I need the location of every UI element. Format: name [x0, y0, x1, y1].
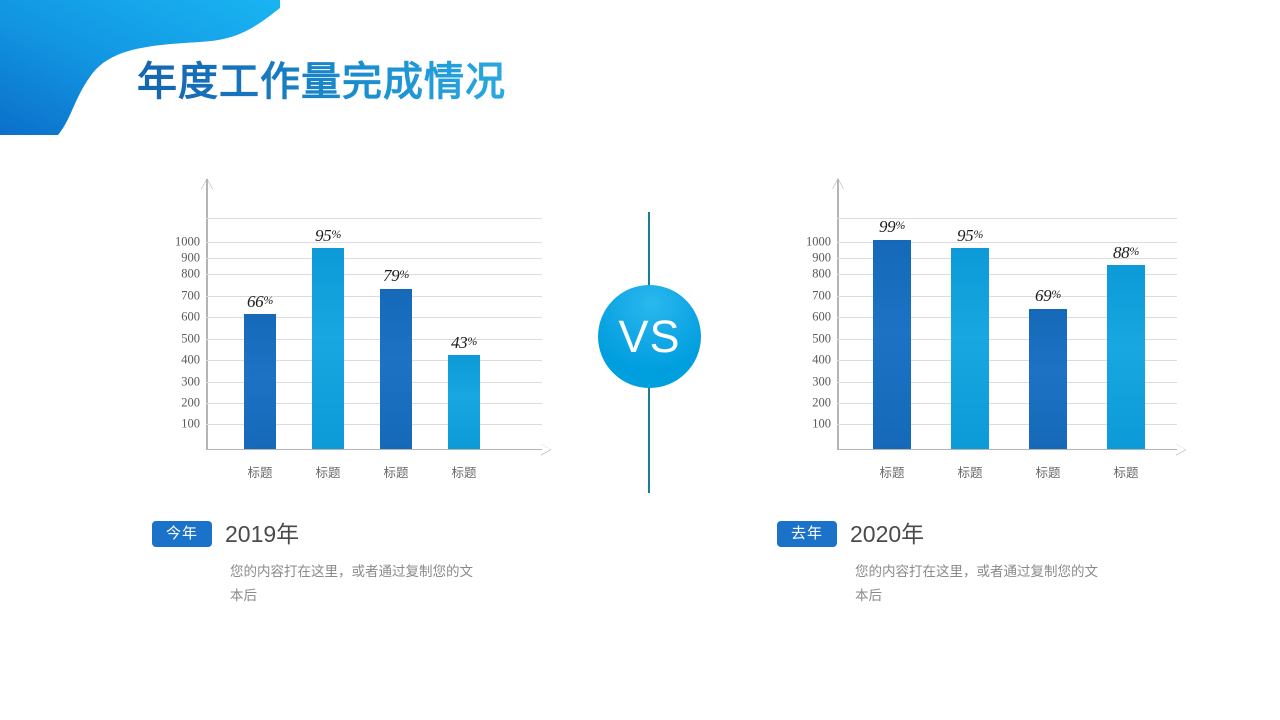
- bar-value-label: 95%: [315, 226, 341, 246]
- y-axis-tick-label: 800: [812, 267, 831, 282]
- caption-body-2019: 您的内容打在这里，或者通过复制您的文本后: [230, 560, 475, 607]
- gridline: [206, 258, 542, 259]
- x-axis-tick-label: 标题: [247, 462, 272, 481]
- y-axis-tick-label: 400: [812, 353, 831, 368]
- caption-head-2019: 今年 2019年: [152, 521, 475, 547]
- bar-value-label: 79%: [383, 266, 409, 286]
- page-title: 年度工作量完成情况: [137, 58, 506, 106]
- caption-head-2020: 去年 2020年: [777, 521, 1100, 547]
- plot-area-left: 100090080070060050040030020010066%95%79%…: [206, 203, 542, 450]
- x-axis-tick-label: 标题: [451, 462, 476, 481]
- plot-area-right: 100090080070060050040030020010099%95%69%…: [837, 203, 1177, 450]
- chart-panel-2020: 100090080070060050040030020010099%95%69%…: [775, 195, 1185, 495]
- caption-year-2019: 2019年: [225, 523, 299, 546]
- y-axis-tick-label: 900: [812, 251, 831, 266]
- y-axis-tick-label: 300: [812, 374, 831, 389]
- y-axis-tick-label: 500: [812, 331, 831, 346]
- bar: [244, 314, 276, 448]
- bar: [1107, 265, 1145, 448]
- vs-badge: VS: [598, 285, 701, 388]
- bar-value-label: 95%: [957, 226, 983, 246]
- caption-2019: 今年 2019年 您的内容打在这里，或者通过复制您的文本后: [152, 521, 475, 607]
- y-axis-right: [837, 179, 839, 450]
- y-axis-tick-label: 900: [181, 251, 200, 266]
- y-axis-tick-label: 400: [181, 353, 200, 368]
- bar-value-label: 88%: [1113, 243, 1139, 263]
- bar: [380, 289, 412, 449]
- bar: [951, 248, 989, 448]
- bar: [312, 248, 344, 448]
- y-axis-tick-label: 100: [812, 417, 831, 432]
- caption-year-2020: 2020年: [850, 523, 924, 546]
- bar-chart-2019: 100090080070060050040030020010066%95%79%…: [150, 195, 550, 495]
- y-axis-tick-label: 700: [812, 288, 831, 303]
- x-axis-right: [837, 449, 1177, 451]
- badge-last-year: 去年: [777, 521, 837, 547]
- y-axis-tick-label: 700: [181, 288, 200, 303]
- x-axis-tick-label: 标题: [879, 462, 904, 481]
- bar: [873, 240, 911, 449]
- gridline: [206, 218, 542, 219]
- x-axis-tick-label: 标题: [1035, 462, 1060, 481]
- gridline: [206, 274, 542, 275]
- bar: [448, 355, 480, 448]
- y-axis-tick-label: 600: [181, 310, 200, 325]
- gridline: [206, 242, 542, 243]
- chart-panel-2019: 100090080070060050040030020010066%95%79%…: [150, 195, 550, 495]
- y-axis-tick-label: 500: [181, 331, 200, 346]
- bar-value-label: 99%: [879, 217, 905, 237]
- y-axis-tick-label: 200: [812, 396, 831, 411]
- y-axis-tick-label: 1000: [806, 234, 831, 249]
- caption-2020: 去年 2020年 您的内容打在这里，或者通过复制您的文本后: [777, 521, 1100, 607]
- y-axis-left: [206, 179, 208, 450]
- bar-chart-2020: 100090080070060050040030020010099%95%69%…: [775, 195, 1185, 495]
- vs-label: VS: [618, 314, 680, 359]
- bar-value-label: 69%: [1035, 286, 1061, 306]
- y-axis-tick-label: 1000: [175, 234, 200, 249]
- x-axis-left: [206, 449, 542, 451]
- bar-value-label: 43%: [451, 333, 477, 353]
- x-axis-tick-label: 标题: [957, 462, 982, 481]
- x-axis-tick-label: 标题: [383, 462, 408, 481]
- y-axis-tick-label: 600: [812, 310, 831, 325]
- bar: [1029, 309, 1067, 449]
- badge-current-year: 今年: [152, 521, 212, 547]
- bar-value-label: 66%: [247, 292, 273, 312]
- y-axis-tick-label: 100: [181, 417, 200, 432]
- caption-body-2020: 您的内容打在这里，或者通过复制您的文本后: [855, 560, 1100, 607]
- y-axis-tick-label: 800: [181, 267, 200, 282]
- x-axis-tick-label: 标题: [315, 462, 340, 481]
- y-axis-tick-label: 300: [181, 374, 200, 389]
- x-axis-tick-label: 标题: [1113, 462, 1138, 481]
- y-axis-tick-label: 200: [181, 396, 200, 411]
